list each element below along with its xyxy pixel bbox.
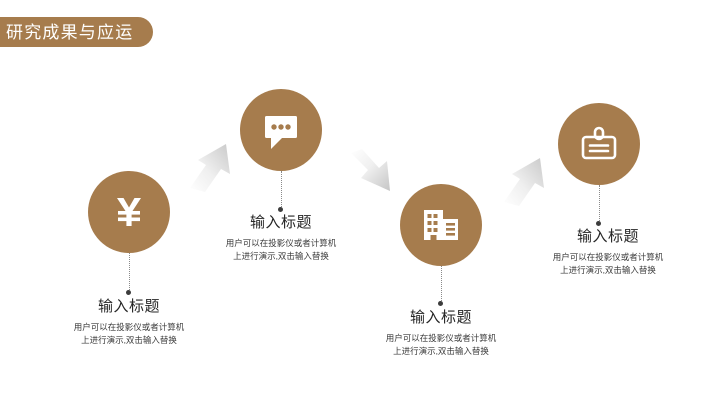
step-4-title: 输入标题 xyxy=(503,228,713,247)
step-4-circle[interactable] xyxy=(558,103,640,185)
step-3-circle[interactable] xyxy=(400,184,482,266)
step-2-body-line-1: 用户可以在投影仪或者计算机 xyxy=(176,237,386,250)
arrow-step-1-to-2 xyxy=(186,138,246,193)
step-1-body-line-1: 用户可以在投影仪或者计算机 xyxy=(24,321,234,334)
step-4-text-block: 输入标题 用户可以在投影仪或者计算机 上进行演示,双击输入替换 xyxy=(503,228,713,277)
step-4-connector-line xyxy=(599,185,600,223)
step-2-circle[interactable] xyxy=(240,89,322,171)
step-2-title: 输入标题 xyxy=(176,214,386,233)
step-4-body-line-1: 用户可以在投影仪或者计算机 xyxy=(503,251,713,264)
step-3-body-line-1: 用户可以在投影仪或者计算机 xyxy=(336,332,546,345)
arrow-step-2-to-3 xyxy=(348,148,406,203)
step-2-text-block: 输入标题 用户可以在投影仪或者计算机 上进行演示,双击输入替换 xyxy=(176,214,386,263)
step-4-body-line-2: 上进行演示,双击输入替换 xyxy=(503,264,713,277)
step-1-connector-line xyxy=(129,253,130,292)
step-2-body-line-2: 上进行演示,双击输入替换 xyxy=(176,250,386,263)
step-1-text-block: 输入标题 用户可以在投影仪或者计算机 上进行演示,双击输入替换 xyxy=(24,298,234,347)
step-4-connector-dot xyxy=(596,221,601,226)
step-3-connector-dot xyxy=(438,301,443,306)
step-2-connector-line xyxy=(281,171,282,209)
step-1-connector-dot xyxy=(126,290,131,295)
yen-currency-icon xyxy=(109,192,149,232)
step-3-title: 输入标题 xyxy=(336,309,546,328)
id-badge-icon xyxy=(578,124,620,164)
slide-title-banner: 研究成果与应运 xyxy=(0,17,153,47)
arrow-step-3-to-4 xyxy=(500,152,560,207)
step-3-body-line-2: 上进行演示,双击输入替换 xyxy=(336,345,546,358)
chat-bubble-icon xyxy=(260,110,302,150)
page-title: 研究成果与应运 xyxy=(6,24,133,41)
step-1-title: 输入标题 xyxy=(24,298,234,317)
step-3-text-block: 输入标题 用户可以在投影仪或者计算机 上进行演示,双击输入替换 xyxy=(336,309,546,358)
office-building-icon xyxy=(420,205,462,245)
step-2-connector-dot xyxy=(278,207,283,212)
step-3-connector-line xyxy=(441,266,442,303)
step-1-body-line-2: 上进行演示,双击输入替换 xyxy=(24,334,234,347)
step-1-circle[interactable] xyxy=(88,171,170,253)
